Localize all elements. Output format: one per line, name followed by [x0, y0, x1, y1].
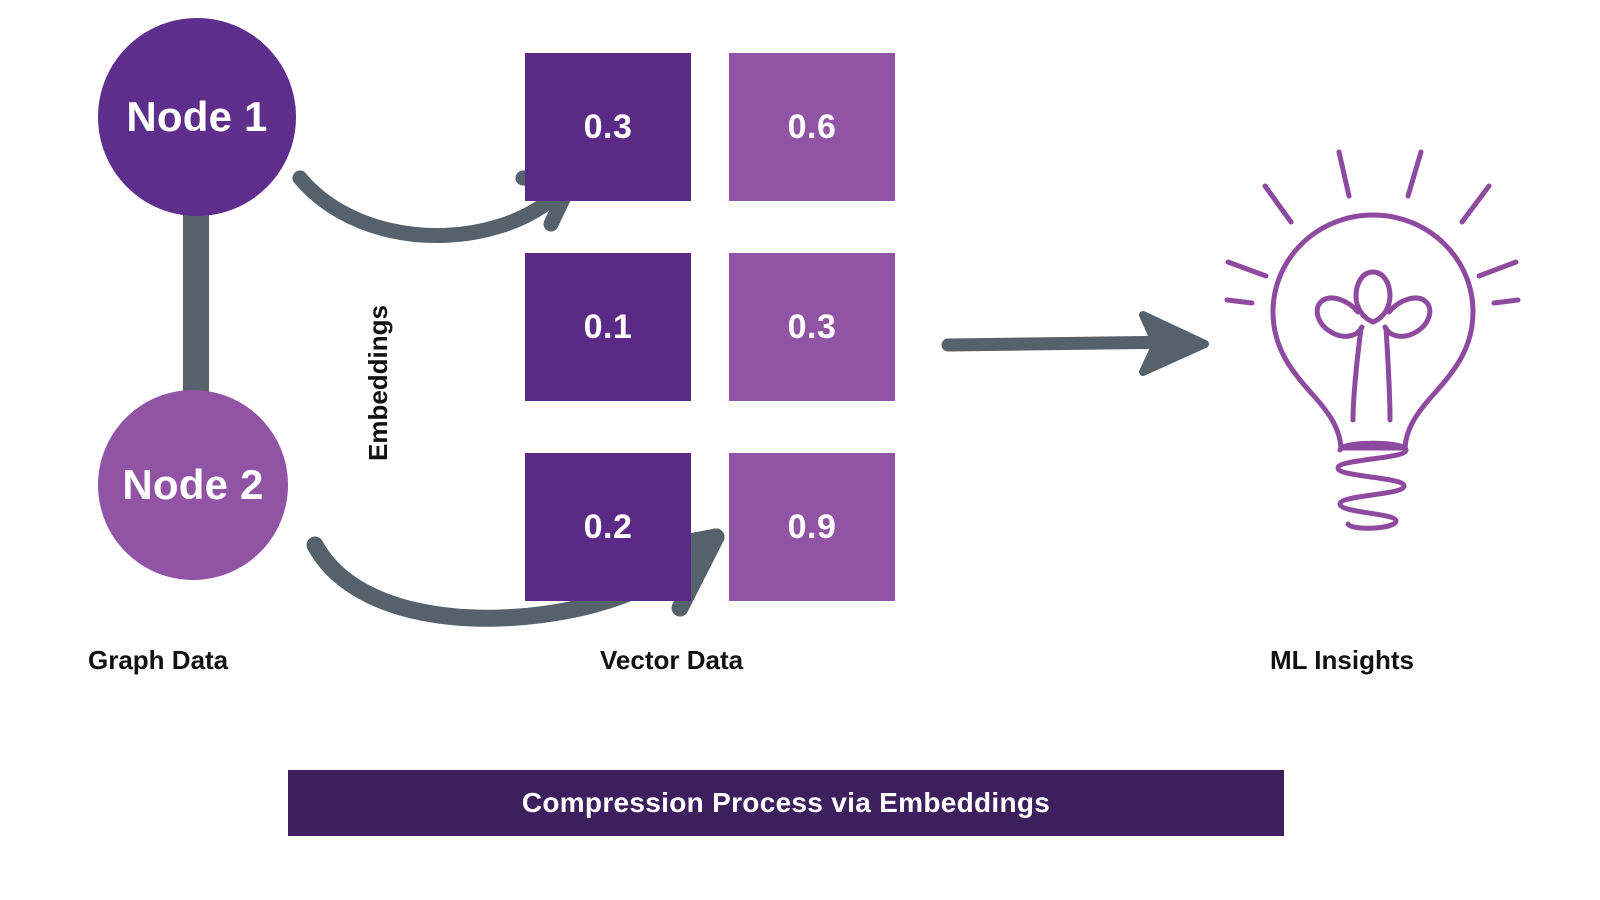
vector-cell[interactable]: 0.6	[729, 53, 895, 201]
caption-graph-data: Graph Data	[88, 645, 228, 676]
vector-cell-value: 0.6	[788, 108, 837, 147]
lightbulb-icon	[1227, 152, 1518, 528]
graph-node-2[interactable]: Node 2	[98, 390, 288, 580]
vector-cell[interactable]: 0.1	[525, 253, 691, 401]
lightbulb-rays	[1227, 152, 1518, 303]
vector-cell[interactable]: 0.9	[729, 453, 895, 601]
vector-cell[interactable]: 0.3	[525, 53, 691, 201]
title-banner-text: Compression Process via Embeddings	[522, 787, 1050, 819]
vector-cell-value: 0.2	[584, 508, 633, 547]
graph-node-1-label: Node 1	[126, 93, 267, 141]
graph-node-2-label: Node 2	[122, 461, 263, 509]
graph-node-1[interactable]: Node 1	[98, 18, 296, 216]
graph-edge	[183, 205, 209, 405]
vector-cell[interactable]: 0.2	[525, 453, 691, 601]
vector-cell-value: 0.3	[788, 308, 837, 347]
caption-ml-insights: ML Insights	[1270, 645, 1414, 676]
caption-vector-data: Vector Data	[600, 645, 743, 676]
diagram-canvas: Node 1 Node 2 0.3 0.6 0.1 0.3 0.2 0.9 Em…	[0, 0, 1600, 900]
embeddings-label: Embeddings	[363, 278, 394, 488]
title-banner: Compression Process via Embeddings	[288, 770, 1284, 836]
vector-cell[interactable]: 0.3	[729, 253, 895, 401]
vector-grid: 0.3 0.6 0.1 0.3 0.2 0.9	[525, 53, 895, 598]
arrow-vector-to-insights	[948, 315, 1205, 372]
vector-cell-value: 0.3	[584, 108, 633, 147]
vector-cell-value: 0.1	[584, 308, 633, 347]
vector-cell-value: 0.9	[788, 508, 837, 547]
